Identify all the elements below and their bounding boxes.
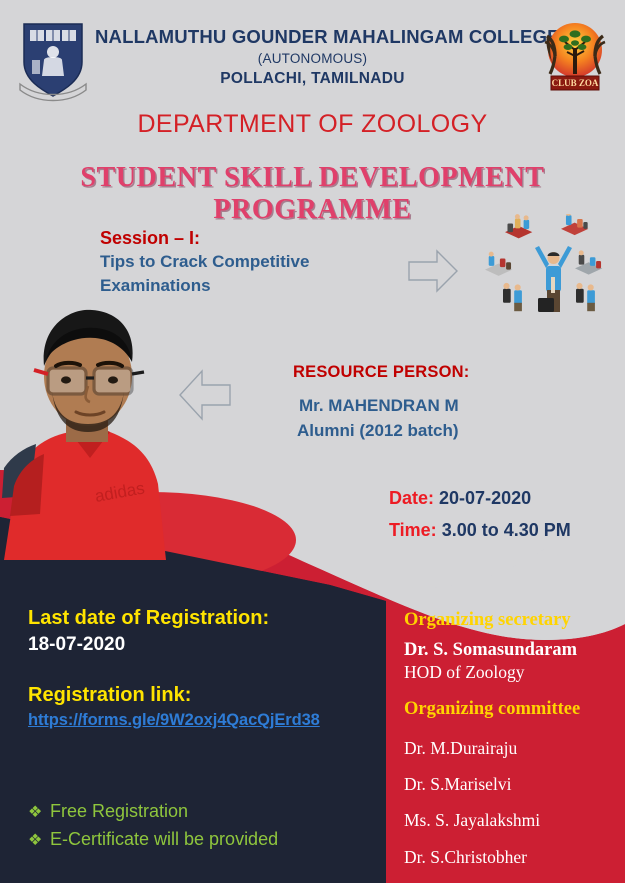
organizing-secretary-label: Organizing secretary xyxy=(404,608,619,632)
organizing-committee-label: Organizing committee xyxy=(404,699,619,720)
college-name: NALLAMUTHU GOUNDER MAHALINGAM COLLEGE xyxy=(95,26,530,48)
session-topic-line1: Tips to Crack Competitive xyxy=(100,251,380,273)
college-crest-icon xyxy=(14,18,92,104)
committee-member: Dr. S.Christobher xyxy=(404,839,619,875)
perk-item-e-certificate: ❖E-Certificate will be provided xyxy=(28,825,378,853)
diamond-bullet-icon: ❖ xyxy=(28,828,50,853)
committee-member: Ms. S. Jayalakshmi xyxy=(404,802,619,838)
resource-person-block: RESOURCE PERSON: Mr. MAHENDRAN M Alumni … xyxy=(293,363,583,441)
organizing-secretary-role: HOD of Zoology xyxy=(404,662,619,683)
schedule-block: Date: 20-07-2020 Time: 3.00 to 4.30 PM xyxy=(389,483,571,546)
organizing-secretary-name: Dr. S. Somasundaram xyxy=(404,640,619,661)
committee-member: Dr. S.Mariselvi xyxy=(404,766,619,802)
college-location: POLLACHI, TAMILNADU xyxy=(95,70,530,88)
perks-list: ❖Free Registration ❖E-Certificate will b… xyxy=(28,797,378,854)
diamond-bullet-icon: ❖ xyxy=(28,800,50,825)
event-time-row: Time: 3.00 to 4.30 PM xyxy=(389,515,571,547)
perk-label: E-Certificate will be provided xyxy=(50,829,278,849)
session-block: Session – I: Tips to Crack Competitive E… xyxy=(100,226,380,297)
club-zoa-tree-icon: CLUB ZOA xyxy=(535,12,615,96)
resource-person-photo: adidas xyxy=(0,300,178,560)
poster-root: NALLAMUTHU GOUNDER MAHALINGAM COLLEGE (A… xyxy=(0,0,625,883)
resource-person-name: Mr. MAHENDRAN M xyxy=(293,396,583,416)
perk-label: Free Registration xyxy=(50,801,188,821)
organizers-block: Organizing secretary Dr. S. Somasundaram… xyxy=(404,608,619,875)
club-zoa-label: CLUB ZOA xyxy=(552,78,599,88)
arrow-left-icon xyxy=(178,367,232,423)
resource-person-label: RESOURCE PERSON: xyxy=(293,363,583,382)
session-label: Session – I: xyxy=(100,226,380,250)
event-date-row: Date: 20-07-2020 xyxy=(389,483,571,515)
training-people-illustration xyxy=(483,214,623,324)
resource-person-subtitle: Alumni (2012 batch) xyxy=(293,421,583,441)
time-value: 3.00 to 4.30 PM xyxy=(442,520,571,540)
date-value: 20-07-2020 xyxy=(439,488,531,508)
perk-item-free-registration: ❖Free Registration xyxy=(28,797,378,825)
last-date-label: Last date of Registration: xyxy=(28,605,378,632)
time-label: Time: xyxy=(389,520,437,540)
autonomous-label: (AUTONOMOUS) xyxy=(95,51,530,66)
date-label: Date: xyxy=(389,488,434,508)
registration-link-label: Registration link: xyxy=(28,684,378,707)
poster-header: NALLAMUTHU GOUNDER MAHALINGAM COLLEGE (A… xyxy=(0,0,625,105)
committee-member: Dr. M.Durairaju xyxy=(404,730,619,766)
registration-link[interactable]: https://forms.gle/9W2oxj4QacQjErd38 xyxy=(28,711,320,730)
arrow-right-icon xyxy=(407,248,459,294)
committee-list: Dr. M.Durairaju Dr. S.Mariselvi Ms. S. J… xyxy=(404,730,619,875)
department-title: DEPARTMENT OF ZOOLOGY xyxy=(0,110,625,139)
session-topic-line2: Examinations xyxy=(100,275,380,297)
last-date-value: 18-07-2020 xyxy=(28,634,378,656)
registration-block: Last date of Registration: 18-07-2020 Re… xyxy=(28,605,378,730)
college-title-group: NALLAMUTHU GOUNDER MAHALINGAM COLLEGE (A… xyxy=(95,26,530,88)
